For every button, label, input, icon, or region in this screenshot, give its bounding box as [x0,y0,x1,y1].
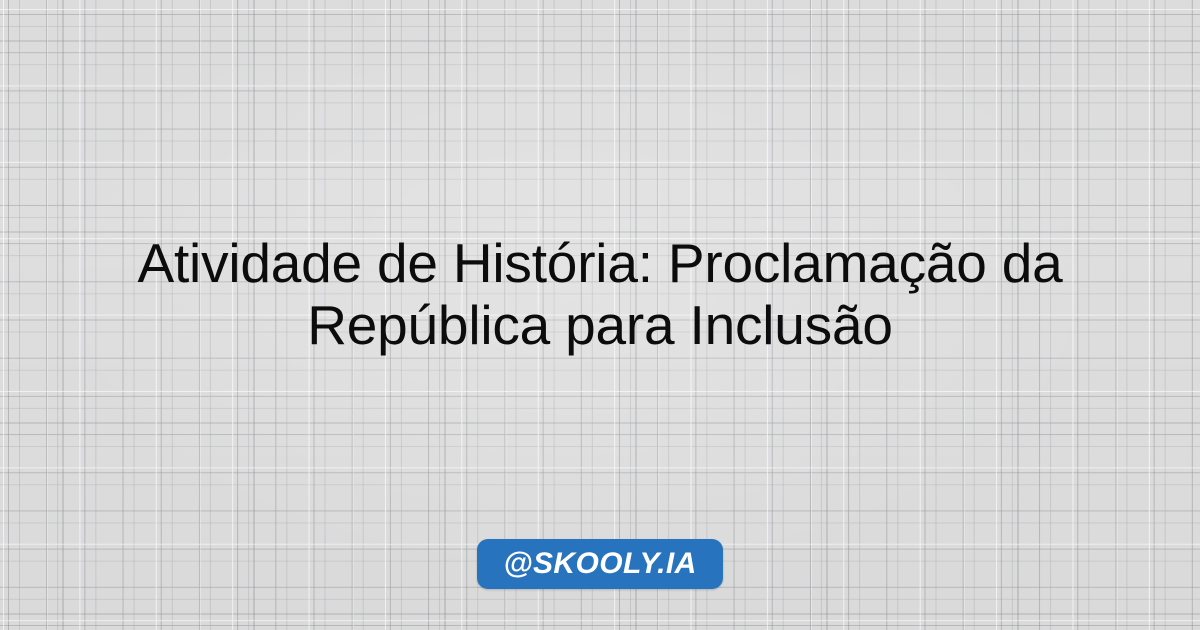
page-title: Atividade de História: Proclamação da Re… [30,232,1170,356]
brand-badge[interactable]: @SKOOLY.IA [477,539,722,589]
brand-handle-label: @SKOOLY.IA [503,549,696,579]
share-card: Atividade de História: Proclamação da Re… [0,0,1200,630]
badge-container: @SKOOLY.IA [0,539,1200,589]
title-container: Atividade de História: Proclamação da Re… [30,232,1170,356]
